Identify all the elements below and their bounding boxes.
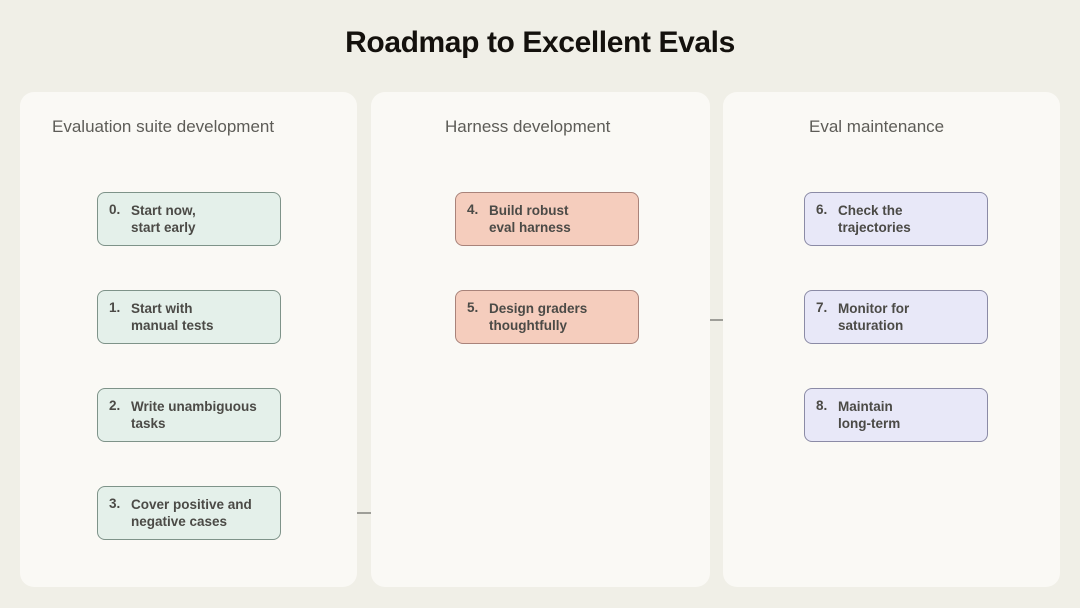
node-label: Monitor for saturation — [838, 300, 909, 334]
node-6-check-the-trajectories[interactable]: 6. Check the trajectories — [804, 192, 988, 246]
node-2-write-unambiguous-tasks[interactable]: 2. Write unambiguous tasks — [97, 388, 281, 442]
node-number: 8. — [816, 398, 838, 413]
node-label: Write unambiguous tasks — [131, 398, 257, 432]
diagram-root: Roadmap to Excellent Evals Evaluation su… — [0, 0, 1080, 608]
node-1-start-with-manual-tests[interactable]: 1. Start with manual tests — [97, 290, 281, 344]
panel-title-evaluation-suite-development: Evaluation suite development — [52, 117, 274, 137]
node-number: 7. — [816, 300, 838, 315]
node-number: 5. — [467, 300, 489, 315]
node-8-maintain-long-term[interactable]: 8. Maintain long-term — [804, 388, 988, 442]
node-number: 0. — [109, 202, 131, 217]
panel-title-eval-maintenance: Eval maintenance — [809, 117, 944, 137]
page-title: Roadmap to Excellent Evals — [0, 26, 1080, 60]
node-label: Start with manual tests — [131, 300, 214, 334]
node-number: 1. — [109, 300, 131, 315]
node-label: Cover positive and negative cases — [131, 496, 252, 530]
node-number: 6. — [816, 202, 838, 217]
node-number: 3. — [109, 496, 131, 511]
node-label: Build robust eval harness — [489, 202, 571, 236]
node-number: 2. — [109, 398, 131, 413]
panel-title-harness-development: Harness development — [445, 117, 610, 137]
node-label: Start now, start early — [131, 202, 196, 236]
node-label: Design graders thoughtfully — [489, 300, 587, 334]
node-number: 4. — [467, 202, 489, 217]
node-3-cover-positive-and-negative-cases[interactable]: 3. Cover positive and negative cases — [97, 486, 281, 540]
node-label: Maintain long-term — [838, 398, 900, 432]
node-4-build-robust-eval-harness[interactable]: 4. Build robust eval harness — [455, 192, 639, 246]
node-label: Check the trajectories — [838, 202, 911, 236]
node-0-start-now[interactable]: 0. Start now, start early — [97, 192, 281, 246]
node-7-monitor-for-saturation[interactable]: 7. Monitor for saturation — [804, 290, 988, 344]
node-5-design-graders-thoughtfully[interactable]: 5. Design graders thoughtfully — [455, 290, 639, 344]
